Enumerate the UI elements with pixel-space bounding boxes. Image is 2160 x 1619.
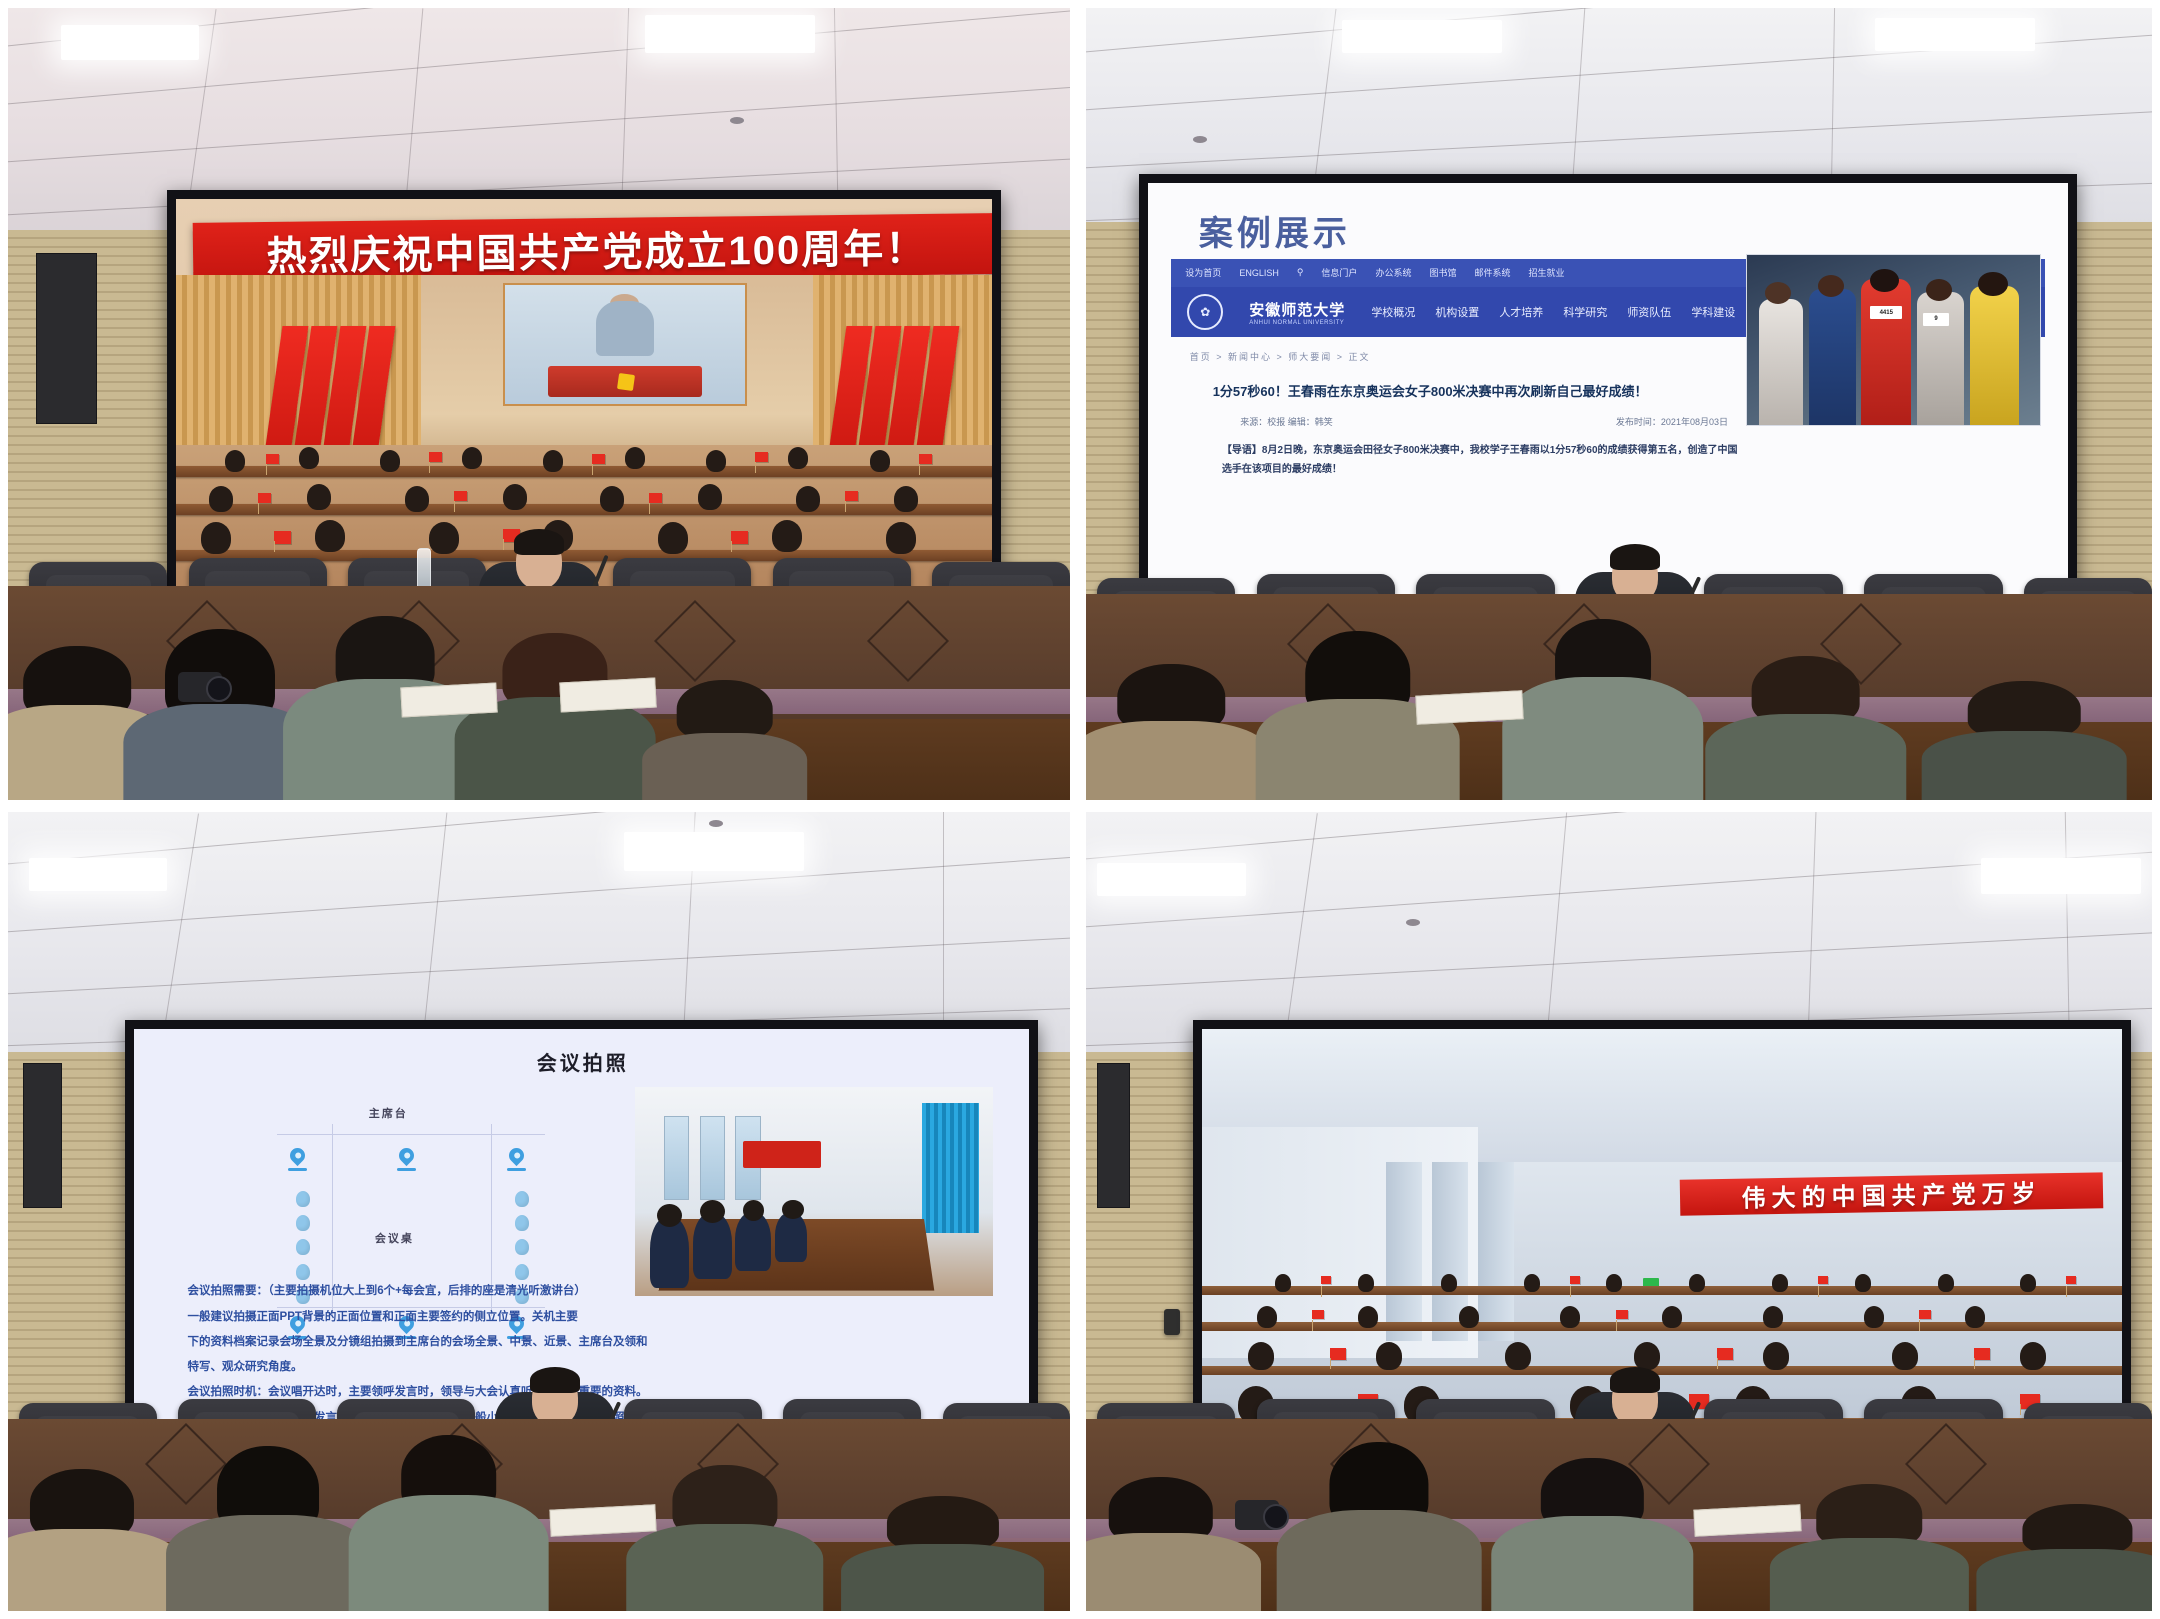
bib-number: 4415: [1870, 306, 1902, 320]
viewer: [1992, 1504, 2152, 1611]
flag-group-right: [838, 326, 951, 446]
ceiling-light: [1097, 863, 1246, 896]
viewer: [1726, 656, 1886, 800]
viewer: [1790, 1484, 1950, 1611]
smoke-detector-icon: [1193, 136, 1207, 143]
ceiling-light: [61, 25, 199, 61]
website-nav-menu: 学校概况 机构设置 人才培养 科学研究 师资队伍 学科建设 合作交流: [1371, 304, 1799, 320]
smoke-detector-icon: [709, 820, 723, 827]
camera[interactable]: [178, 672, 222, 702]
viewer: [858, 1496, 1028, 1611]
notebook: [400, 682, 497, 717]
meeting-room-photo: [635, 1087, 993, 1296]
meeting-photo: [635, 1087, 993, 1296]
ceiling-light: [1342, 20, 1502, 53]
hall-banner-text: 伟大的中国共产党万岁: [1741, 1173, 2042, 1213]
ceiling-light: [1981, 858, 2141, 894]
panel-top-right: 案例展示 设为首页 ENGLISH ⚲ 信息门户 办公系统 图书馆 邮件系统 招…: [1086, 8, 2152, 800]
celebration-banner-text: 热烈庆祝中国共产党成立100周年！: [266, 216, 927, 282]
podium-projection: [503, 283, 748, 406]
audience-foreground-4: [1086, 1419, 2152, 1611]
ceiling-light: [645, 15, 815, 53]
conference-room-4: 伟大的中国共产党万岁: [1086, 812, 2152, 1611]
flag-group-left: [274, 326, 387, 446]
university-name: 安徽师范大学: [1249, 299, 1345, 320]
wall-vent: [36, 253, 97, 424]
body-line: 会议拍照需要：（主要拍摄机位大上到6个+每会宜，后排的座是清光听激讲台）: [188, 1279, 985, 1304]
news-photo: 4415 9: [1746, 254, 2040, 426]
panel-bottom-right: 伟大的中国共产党万岁: [1086, 812, 2152, 1611]
viewer: [369, 1435, 528, 1611]
viewer: [1939, 681, 2110, 800]
wall-vent: [1097, 1063, 1130, 1208]
seat-marker: [515, 1239, 529, 1255]
nav-item[interactable]: 机构设置: [1435, 304, 1479, 320]
smoke-detector-icon: [1406, 919, 1420, 926]
nav-item[interactable]: 师资队伍: [1627, 304, 1671, 320]
position-pin-icon: [509, 1148, 524, 1167]
viewer: [475, 633, 634, 800]
smoke-detector-icon: [730, 117, 744, 124]
conference-room-1: 热烈庆祝中国共产党成立100周年！: [8, 8, 1070, 800]
panel-top-left: 热烈庆祝中国共产党成立100周年！: [8, 8, 1070, 800]
article-lead: 【导语】8月2日晚，东京奥运会田径女子800米决赛中，我校学子王春雨以1分57秒…: [1222, 441, 1746, 479]
breadcrumb: 首页 > 新闻中心 > 师大要闻 > 正文: [1190, 350, 1371, 363]
position-pin-icon: [290, 1148, 305, 1167]
party-emblem-icon: [617, 373, 635, 391]
panel-bottom-left: 会议拍照 主席台: [8, 812, 1070, 1611]
nav-item[interactable]: 科学研究: [1563, 304, 1607, 320]
search-icon[interactable]: ⚲: [1297, 267, 1304, 278]
audience-foreground-1: [8, 586, 1070, 800]
viewer: [1512, 1458, 1672, 1611]
position-pin-icon: [399, 1148, 414, 1167]
topbar-item[interactable]: 图书馆: [1429, 266, 1456, 279]
photo-collage: 热烈庆祝中国共产党成立100周年！: [0, 0, 2160, 1619]
topbar-item[interactable]: 办公系统: [1375, 266, 1411, 279]
blue-curtain: [922, 1103, 979, 1233]
seat-marker: [296, 1239, 310, 1255]
body-line: 一般建议拍摄正面PPT背景的正面位置和正面主要签约的侧立位置。关机主要: [188, 1305, 985, 1330]
seat-marker: [296, 1215, 310, 1231]
wall-speaker: [1164, 1309, 1180, 1335]
university-name-block: 安徽师范大学 ANHUI NORMAL UNIVERSITY: [1249, 299, 1345, 326]
audience-foreground-3: [8, 1419, 1070, 1611]
seat-marker: [515, 1191, 529, 1207]
nav-item[interactable]: 人才培养: [1499, 304, 1543, 320]
nav-item[interactable]: 学科建设: [1691, 304, 1735, 320]
article-date: 发布时间：2021年08月03日: [1616, 415, 1728, 428]
viewer: [1299, 1442, 1459, 1611]
ceiling-light: [29, 858, 167, 891]
conference-room-2: 案例展示 设为首页 ENGLISH ⚲ 信息门户 办公系统 图书馆 邮件系统 招…: [1086, 8, 2152, 800]
university-logo-icon: ✿: [1187, 294, 1223, 330]
topbar-item[interactable]: 邮件系统: [1474, 266, 1510, 279]
topbar-item[interactable]: 信息门户: [1321, 266, 1357, 279]
stage: [176, 275, 992, 474]
seat-marker: [296, 1264, 310, 1280]
nav-item[interactable]: 学校概况: [1371, 304, 1415, 320]
celebration-banner: 热烈庆祝中国共产党成立100周年！: [192, 213, 992, 284]
viewer: [146, 629, 295, 800]
hall-banner: 伟大的中国共产党万岁: [1680, 1172, 2104, 1215]
seat-marker: [515, 1264, 529, 1280]
notebook: [1416, 690, 1524, 724]
bib-number: 9: [1923, 313, 1949, 327]
viewer: [645, 1465, 804, 1611]
diagram-top-label: 主席台: [369, 1105, 408, 1121]
camera[interactable]: [1235, 1500, 1279, 1530]
viewer: [656, 680, 794, 800]
ceiling-light: [1875, 18, 2035, 51]
viewer: [1523, 619, 1683, 800]
seat-marker: [296, 1191, 310, 1207]
diagram-center-label: 会议桌: [375, 1230, 414, 1246]
viewer: [8, 1469, 157, 1611]
viewer: [1086, 1477, 1235, 1611]
conference-room-3: 会议拍照 主席台: [8, 812, 1070, 1611]
article-byline: 来源：校报 编辑：韩笑: [1240, 415, 1333, 428]
viewer: [189, 1446, 348, 1611]
speaker-figure: [596, 301, 654, 356]
article-title: 1分57秒60！王春雨在东京奥运会女子800米决赛中再次刷新自己最好成绩！: [1213, 383, 1737, 401]
university-name-en: ANHUI NORMAL UNIVERSITY: [1249, 320, 1345, 326]
viewer: [1097, 664, 1246, 800]
topbar-item[interactable]: 设为首页: [1185, 266, 1221, 279]
topbar-item[interactable]: ENGLISH: [1239, 268, 1279, 278]
audience-foreground-2: [1086, 594, 2152, 800]
slide-title: 案例展示: [1199, 206, 1351, 255]
wall-vent: [23, 1063, 62, 1208]
ceiling-light: [624, 832, 805, 870]
topbar-item[interactable]: 招生就业: [1528, 266, 1564, 279]
meeting-red-banner: [743, 1141, 822, 1168]
seat-marker: [515, 1215, 529, 1231]
slide-title: 会议拍照: [537, 1047, 629, 1076]
viewer: [1278, 631, 1438, 800]
notebook: [560, 678, 657, 713]
